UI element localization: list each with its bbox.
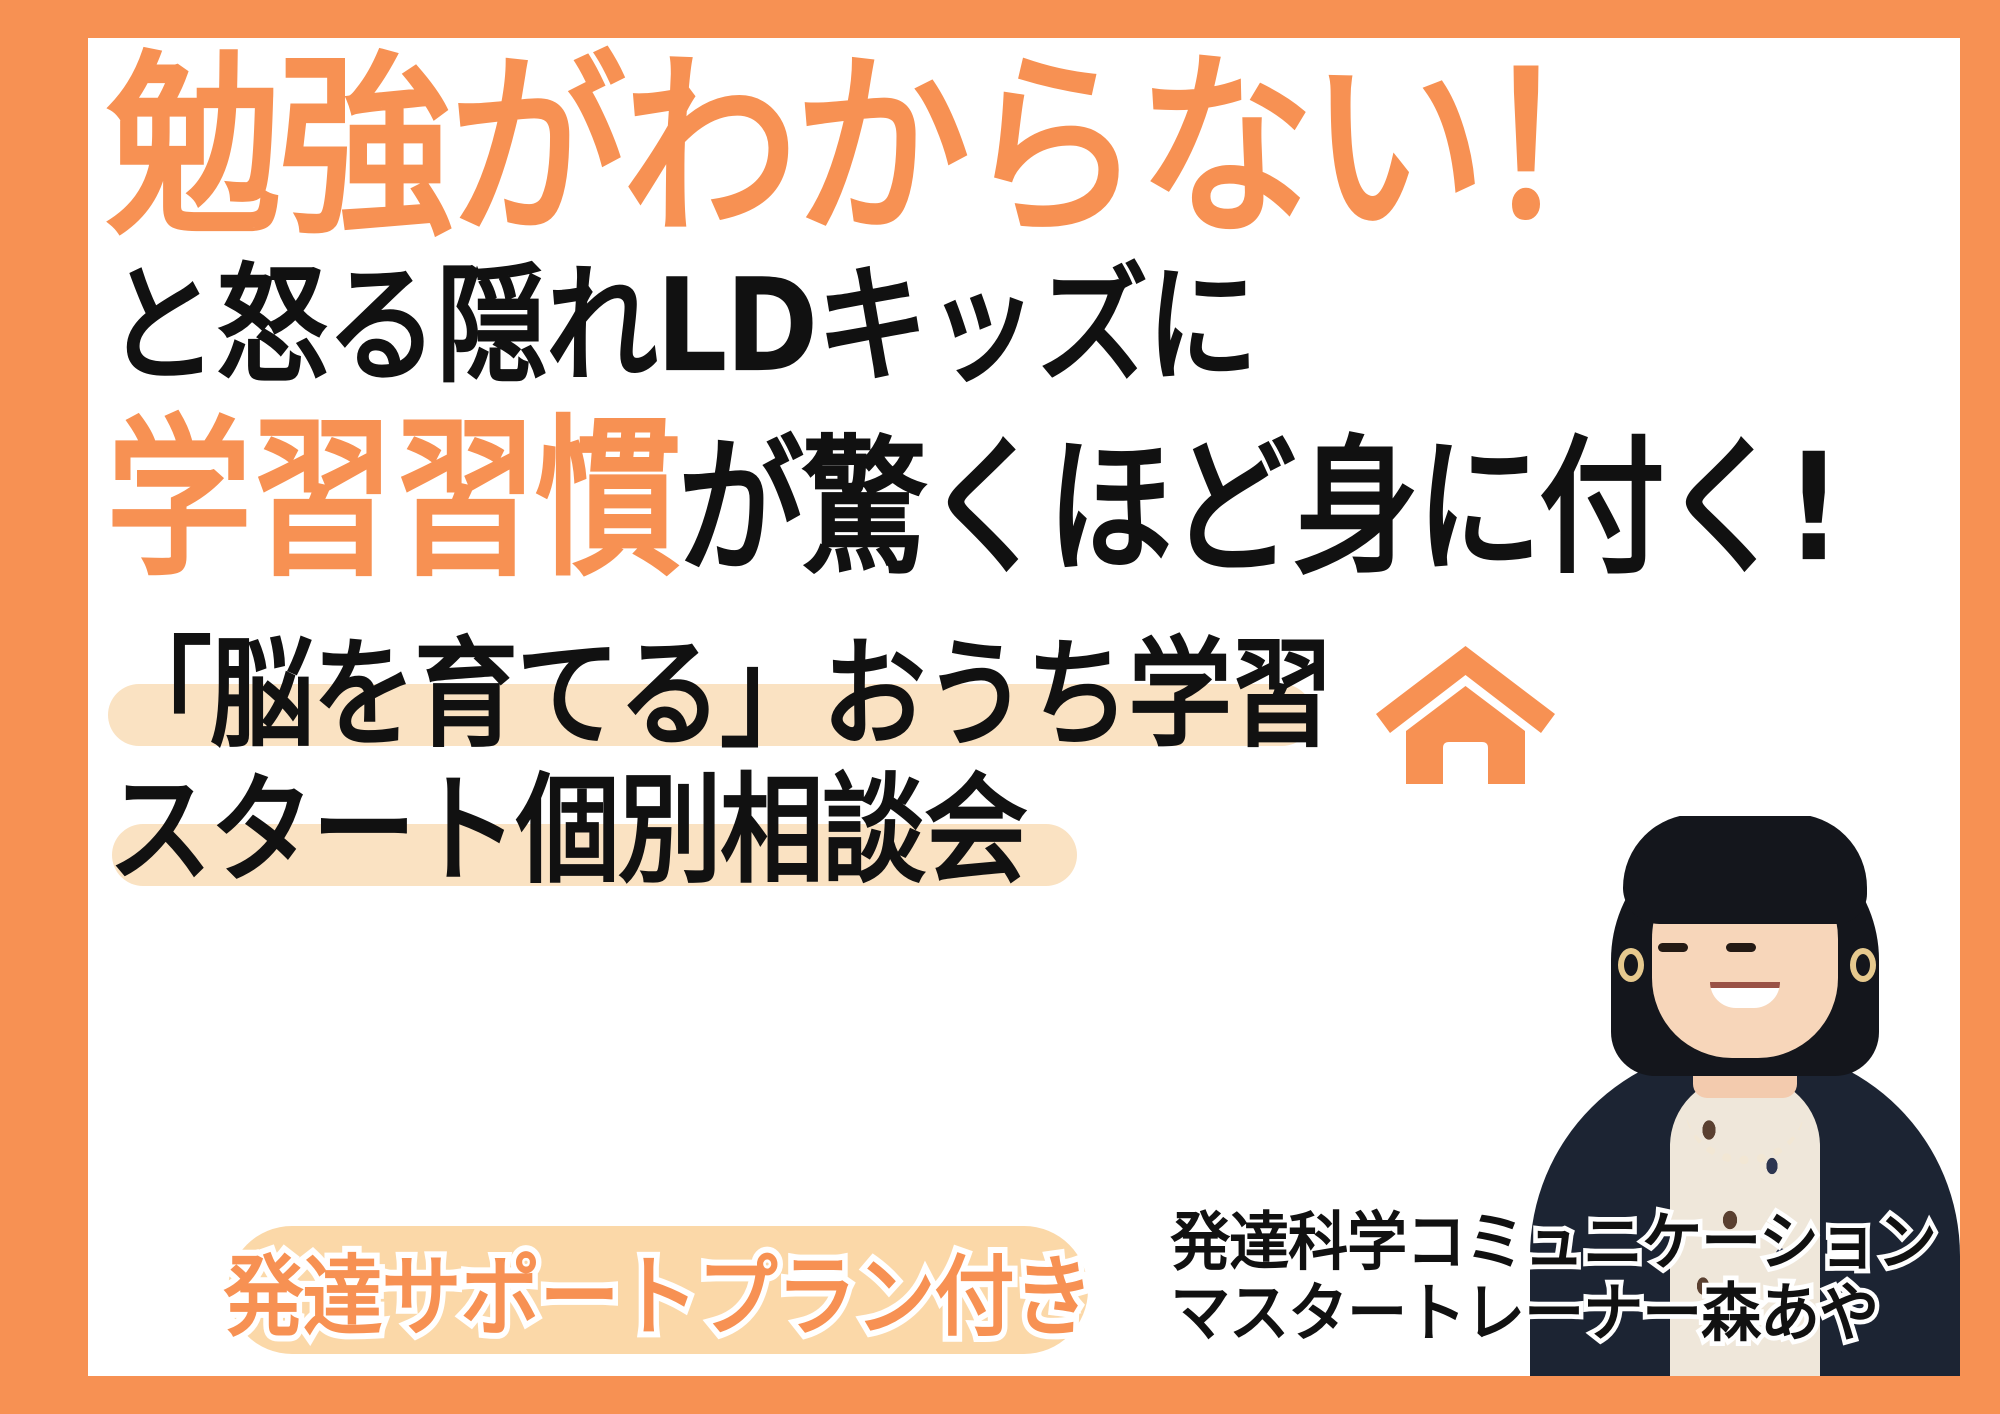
presenter-credentials: 発達科学コミュニケーション マスタートレーナー森あや (1170, 1210, 1936, 1352)
headline-line-3-rest: が驚くほど身に付く! (678, 421, 1839, 594)
subhead-line-2: スタート個別相談会 (108, 762, 1508, 890)
promo-banner: 勉強がわからない！ と怒る隠れLDキッズに 学習習慣が驚くほど身に付く! 「脳を… (0, 0, 2000, 1414)
presenter-eye-right (1726, 943, 1756, 952)
headline-line-3: 学習習慣が驚くほど身に付く! (106, 414, 1936, 586)
headline-line-1: 勉強がわからない！ (106, 48, 1936, 249)
presenter-organization: 発達科学コミュニケーション (1170, 1206, 1936, 1281)
house-icon (1373, 638, 1558, 788)
subhead-row-2: スタート個別相談会 (108, 762, 1508, 890)
presenter-earring-right (1850, 948, 1876, 982)
subhead-line-1: 「脳を育てる」おうち学習 (108, 626, 1508, 754)
presenter-eye-left (1658, 943, 1688, 952)
plan-badge-label: 発達サポートプラン付き (224, 1226, 1093, 1354)
subhead-block: 「脳を育てる」おうち学習 スタート個別相談会 (108, 626, 1508, 890)
headline-highlight-term: 学習習慣 (106, 399, 678, 600)
presenter-earring-left (1618, 948, 1644, 982)
banner-canvas: 勉強がわからない！ と怒る隠れLDキッズに 学習習慣が驚くほど身に付く! 「脳を… (88, 38, 1960, 1376)
presenter-bangs (1623, 816, 1867, 924)
headline-block: 勉強がわからない！ と怒る隠れLDキッズに 学習習慣が驚くほど身に付く! (106, 48, 1936, 560)
presenter-title-and-name: マスタートレーナー森あや (1170, 1277, 1936, 1352)
headline-line-2: と怒る隠れLDキッズに (106, 262, 1936, 391)
subhead-row-1: 「脳を育てる」おうち学習 (108, 626, 1508, 754)
plan-badge[interactable]: 発達サポートプラン付き (228, 1226, 1088, 1354)
